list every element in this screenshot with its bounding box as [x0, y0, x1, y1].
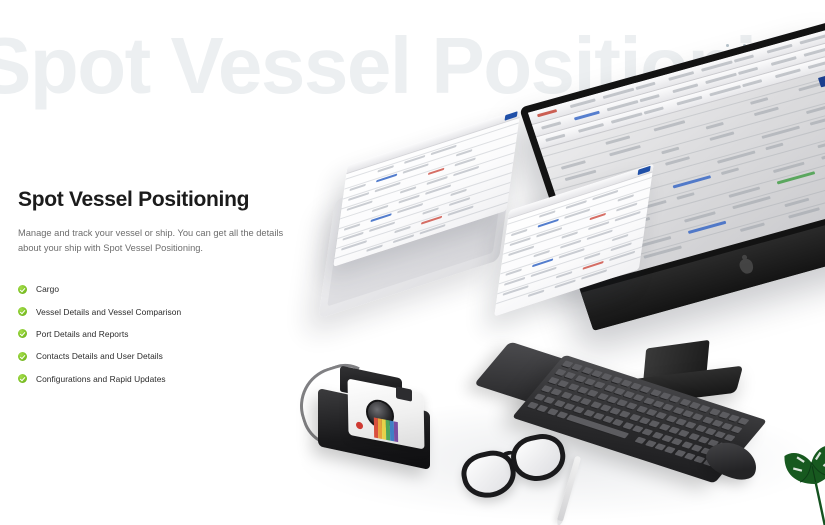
- eyeglasses-icon: [456, 429, 571, 496]
- keyboard-key: [669, 395, 681, 402]
- keyboard-key: [664, 446, 676, 453]
- camera-icon: [318, 372, 436, 464]
- keyboard-key: [601, 373, 613, 380]
- feature-label: Contacts Details and User Details: [36, 351, 163, 361]
- glasses-right-lens: [507, 430, 569, 486]
- check-circle-icon: [18, 307, 27, 316]
- keyboard-key: [642, 428, 654, 435]
- check-circle-icon: [18, 329, 27, 338]
- feature-list-item: Vessel Details and Vessel Comparison: [18, 301, 318, 323]
- keyboard-key: [671, 438, 683, 445]
- page-title: Spot Vessel Positioning: [18, 188, 318, 212]
- panel-titlebar: [346, 109, 520, 174]
- panel-tab-badge: [638, 166, 651, 176]
- feature-list-item: Contacts Details and User Details: [18, 345, 318, 367]
- keyboard-key: [692, 413, 704, 420]
- keyboard-key: [635, 437, 647, 444]
- page-description: Manage and track your vessel or ship. Yo…: [18, 226, 286, 256]
- feature-label: Configurations and Rapid Updates: [36, 374, 166, 384]
- apple-logo-icon: [738, 257, 755, 275]
- content-column: Spot Vessel Positioning Manage and track…: [18, 188, 318, 390]
- feature-list-item: Cargo: [18, 278, 318, 300]
- feature-list-item: Port Details and Reports: [18, 323, 318, 345]
- panel-tab-badge: [505, 111, 518, 121]
- check-circle-icon: [18, 374, 27, 383]
- leaf-icon: [783, 436, 825, 525]
- keyboard-key: [587, 390, 599, 397]
- rainbow-stripe-band: [394, 421, 398, 442]
- keyboard-key: [573, 406, 585, 413]
- feature-list: CargoVessel Details and Vessel Compariso…: [18, 278, 318, 389]
- feature-label: Cargo: [36, 284, 59, 294]
- keyboard-key: [580, 398, 592, 405]
- check-circle-icon: [18, 352, 27, 361]
- feature-label: Port Details and Reports: [36, 329, 128, 339]
- feature-list-item: Configurations and Rapid Updates: [18, 367, 318, 389]
- keyboard-key: [594, 381, 606, 388]
- product-feature-page: Spot Vessel Positioning: [0, 0, 825, 525]
- keyboard-key: [685, 421, 697, 428]
- feature-label: Vessel Details and Vessel Comparison: [36, 307, 181, 317]
- keyboard-key: [678, 430, 690, 437]
- keyboard-key: [663, 404, 675, 411]
- keyboard-key: [738, 418, 750, 425]
- keyboard-key: [731, 426, 743, 433]
- check-circle-icon: [18, 285, 27, 294]
- keyboard-key: [724, 434, 736, 441]
- keyboard-key: [699, 405, 711, 412]
